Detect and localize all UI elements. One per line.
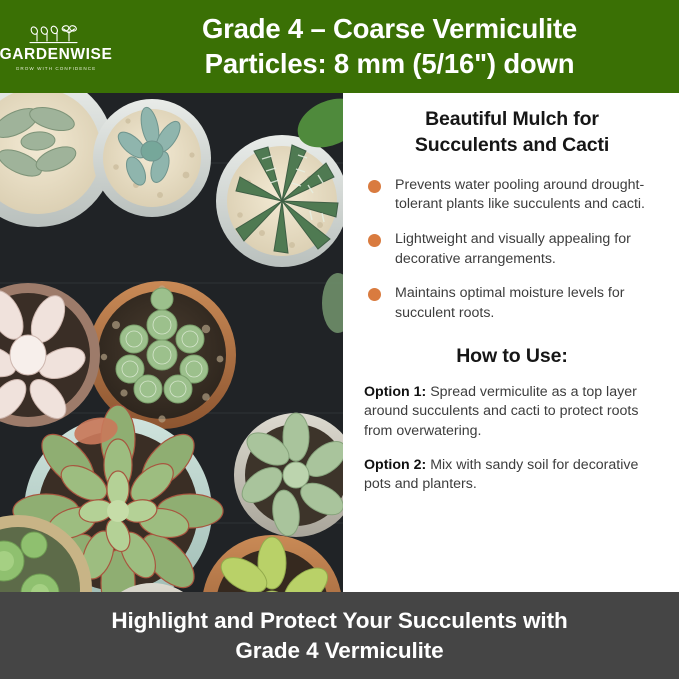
- seedling-sprouts-icon: [27, 24, 85, 46]
- option-1: Option 1: Spread vermiculite as a top la…: [364, 383, 660, 442]
- bullet-dot-icon: [368, 180, 381, 193]
- bullet-text: Maintains optimal moisture levels for su…: [395, 285, 624, 321]
- brand-tagline: GROW WITH CONFIDENCE: [16, 66, 96, 71]
- brand-logo: GARDENWISE GROW WITH CONFIDENCE: [0, 22, 112, 71]
- bullet-text: Lightweight and visually appealing for d…: [395, 231, 631, 267]
- benefits-list: Prevents water pooling around drought-to…: [368, 176, 660, 324]
- option-2: Option 2: Mix with sandy soil for decora…: [364, 456, 660, 495]
- product-photo: [0, 93, 343, 592]
- header-banner: GARDENWISE GROW WITH CONFIDENCE Grade 4 …: [0, 0, 679, 93]
- footer-line-1: Highlight and Protect Your Succulents wi…: [111, 606, 567, 635]
- panel-heading-line-1: Beautiful Mulch for: [364, 107, 660, 133]
- how-to-use-heading: How to Use:: [364, 345, 660, 368]
- panel-heading-line-2: Succulents and Cacti: [364, 133, 660, 159]
- header-title: Grade 4 – Coarse Vermiculite Particles: …: [112, 12, 679, 81]
- list-item: Maintains optimal moisture levels for su…: [368, 284, 660, 323]
- footer-line-2: Grade 4 Vermiculite: [111, 636, 567, 665]
- header-title-line-2: Particles: 8 mm (5/16") down: [114, 47, 665, 82]
- product-infographic: GARDENWISE GROW WITH CONFIDENCE Grade 4 …: [0, 0, 679, 679]
- header-title-line-1: Grade 4 – Coarse Vermiculite: [114, 12, 665, 47]
- list-item: Lightweight and visually appealing for d…: [368, 230, 660, 269]
- footer-tagline: Highlight and Protect Your Succulents wi…: [111, 606, 567, 665]
- panel-heading: Beautiful Mulch for Succulents and Cacti: [364, 107, 660, 159]
- option-1-label: Option 1:: [364, 384, 426, 400]
- succulent-pots-illustration: [0, 93, 343, 592]
- list-item: Prevents water pooling around drought-to…: [368, 176, 660, 215]
- footer-banner: Highlight and Protect Your Succulents wi…: [0, 592, 679, 679]
- bullet-text: Prevents water pooling around drought-to…: [395, 177, 645, 213]
- brand-wordmark: GARDENWISE: [0, 47, 112, 63]
- bullet-dot-icon: [368, 234, 381, 247]
- option-2-label: Option 2:: [364, 457, 426, 473]
- bullet-dot-icon: [368, 288, 381, 301]
- content-panel: Beautiful Mulch for Succulents and Cacti…: [343, 93, 679, 592]
